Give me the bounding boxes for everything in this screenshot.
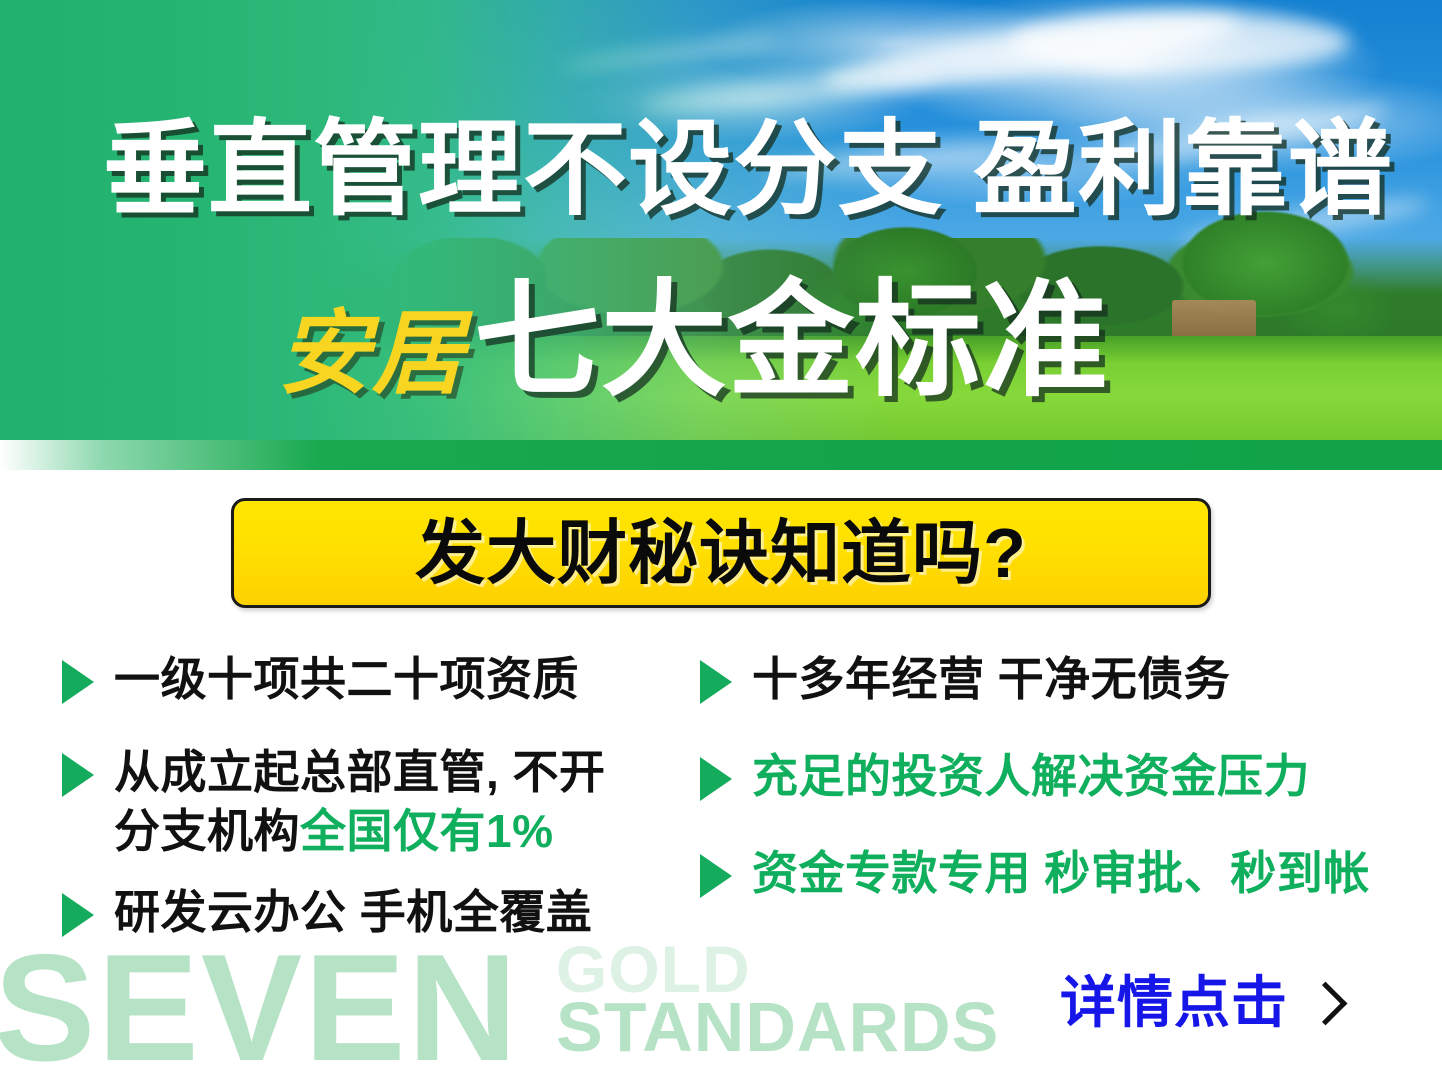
list-item-line: 从成立起总部直管, 不开 xyxy=(114,746,606,798)
brand-name: 安居 xyxy=(278,308,466,404)
feature-column-left: 一级十项共二十项资质 从成立起总部直管, 不开 分支机构全国仅有1% 研发云办公… xyxy=(62,650,682,972)
hero-headline-primary: 垂直管理不设分支 盈利靠谱 xyxy=(103,118,1393,222)
list-item-line: 一级十项共二十项资质 xyxy=(114,653,579,705)
list-item: 从成立起总部直管, 不开 分支机构全国仅有1% xyxy=(62,743,682,861)
list-item-line: 十多年经营 干净无债务 xyxy=(752,653,1230,705)
list-item-text: 从成立起总部直管, 不开 分支机构全国仅有1% xyxy=(114,743,606,861)
watermark-standards: STANDARDS xyxy=(556,992,999,1062)
list-item-text: 充足的投资人解决资金压力 xyxy=(752,747,1310,806)
list-item-highlight: 全国仅有1% xyxy=(300,805,553,857)
list-item: 资金专款专用 秒审批、秒到帐 xyxy=(700,844,1400,903)
triangle-right-icon xyxy=(62,753,94,797)
list-item: 十多年经营 干净无债务 xyxy=(700,650,1400,709)
highlight-banner[interactable]: 发大财秘诀知道吗? xyxy=(231,498,1211,608)
chevron-right-icon xyxy=(1304,981,1348,1025)
triangle-right-icon xyxy=(62,893,94,937)
triangle-right-icon xyxy=(700,757,732,801)
list-item-line: 资金专款专用 秒审批、秒到帐 xyxy=(752,847,1370,899)
triangle-right-icon xyxy=(700,854,732,898)
list-item-line: 分支机构 xyxy=(114,805,300,857)
highlight-banner-label: 发大财秘诀知道吗? xyxy=(415,518,1027,588)
triangle-right-icon xyxy=(700,660,732,704)
list-item: 充足的投资人解决资金压力 xyxy=(700,747,1400,806)
list-item: 研发云办公 手机全覆盖 xyxy=(62,883,682,942)
hero-banner: 垂直管理不设分支 盈利靠谱 安居 七大金标准 xyxy=(0,0,1442,470)
cloud-shape xyxy=(1010,12,1350,72)
hero-headline-secondary: 安居 七大金标准 xyxy=(278,278,1109,404)
details-cta-button[interactable]: 详情点击 xyxy=(1060,975,1341,1031)
list-item-text: 十多年经营 干净无债务 xyxy=(752,650,1230,709)
feature-columns: 一级十项共二十项资质 从成立起总部直管, 不开 分支机构全国仅有1% 研发云办公… xyxy=(0,650,1442,980)
list-item-text: 研发云办公 手机全覆盖 xyxy=(114,883,592,942)
triangle-right-icon xyxy=(62,660,94,704)
hero-headline-secondary-text: 七大金标准 xyxy=(474,278,1109,404)
list-item-line: 充足的投资人解决资金压力 xyxy=(752,750,1310,802)
list-item-line: 研发云办公 手机全覆盖 xyxy=(114,886,592,938)
details-cta-label: 详情点击 xyxy=(1060,975,1288,1031)
promo-poster: 垂直管理不设分支 盈利靠谱 安居 七大金标准 发大财秘诀知道吗? SEVEN G… xyxy=(0,0,1442,1066)
list-item-text: 一级十项共二十项资质 xyxy=(114,650,579,709)
feature-column-right: 十多年经营 干净无债务 充足的投资人解决资金压力 资金专款专用 秒审批、秒到帐 xyxy=(700,650,1400,933)
hero-bottom-bar xyxy=(0,440,1442,470)
list-item: 一级十项共二十项资质 xyxy=(62,650,682,709)
list-item-text: 资金专款专用 秒审批、秒到帐 xyxy=(752,844,1370,903)
